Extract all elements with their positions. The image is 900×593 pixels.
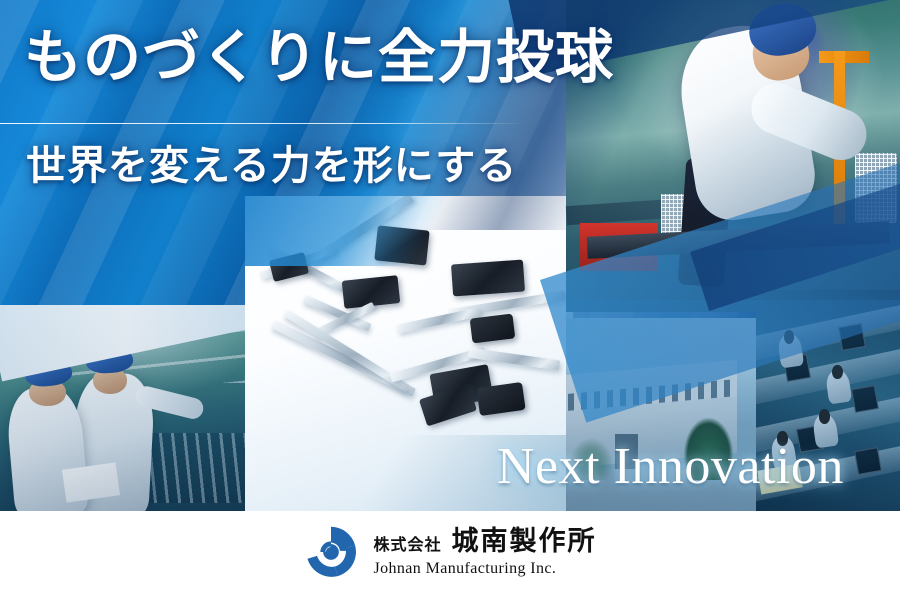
monitor-5 [855,447,883,475]
part-motor-1 [470,313,515,343]
office-worker-3-head [819,409,830,423]
page-title: ものづくりに全力投球 [24,28,614,86]
assembly-machinery [142,433,245,503]
inspection-sheet [62,462,120,502]
tagline: Next Innovation [497,441,844,493]
office-worker-1-head [784,330,795,344]
logo-corporate-prefix: 株式会社 [373,537,441,553]
photo-worker-at-press-line [566,0,900,312]
johnan-swirl-logo-icon [303,524,359,580]
company-logo-lockup[interactable]: 株式会社 城南製作所 Johnan Manufacturing Inc. [303,524,596,580]
logo-company-name-jp: 城南製作所 [452,528,597,555]
logo-japanese-line: 株式会社 城南製作所 [373,528,596,555]
page-subtitle: 世界を変える力を形にする [26,146,517,186]
part-gear-sector-2 [419,384,478,427]
part-scissor-arm-1 [396,307,481,334]
office-worker-2-head [832,365,843,379]
logo-company-name-en: Johnan Manufacturing Inc. [373,561,596,577]
monitor-1 [838,323,866,351]
part-latch-4 [451,260,525,296]
perforated-panel-1 [855,153,897,223]
photo-factory-workers-inspection [0,305,245,511]
monitor-3 [851,385,879,413]
company-banner: ものづくりに全力投球 世界を変える力を形にする Next Innovation [0,0,900,593]
part-latch-2 [375,225,431,265]
part-motor-2 [476,382,525,416]
logo-wordmark: 株式会社 城南製作所 Johnan Manufacturing Inc. [373,528,596,577]
footer-logo-bar: 株式会社 城南製作所 Johnan Manufacturing Inc. [0,511,900,593]
hero-banner: ものづくりに全力投球 世界を変える力を形にする Next Innovation [0,0,900,511]
